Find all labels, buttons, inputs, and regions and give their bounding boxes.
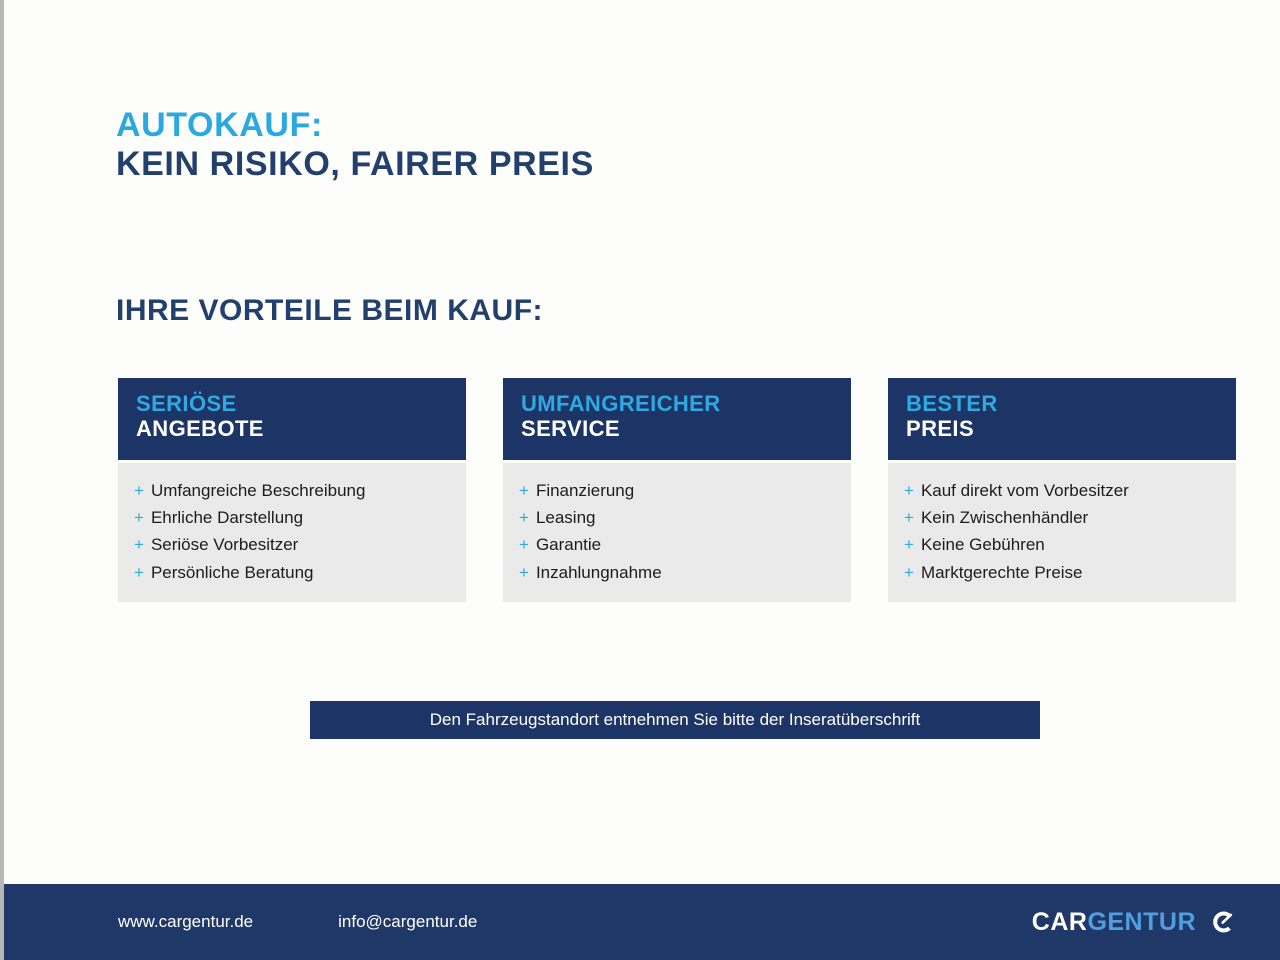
list-item: + Marktgerechte Preise [904,559,1220,586]
plus-icon: + [904,477,914,504]
card-header-main-line: SERVICE [521,417,833,442]
plus-icon: + [134,559,144,586]
list-item-label: Leasing [536,504,596,531]
section-title: IHRE VORTEILE BEIM KAUF: [116,294,543,328]
plus-icon: + [519,531,529,558]
logo-text-car: CAR [1032,908,1088,937]
plus-icon: + [519,504,529,531]
list-item-label: Garantie [536,531,601,558]
card-header-accent-line: BESTER [906,392,1218,417]
card-feature-list: + Kauf direkt vom Vorbesitzer + Kein Zwi… [888,463,1236,602]
plus-icon: + [904,504,914,531]
list-item: + Garantie [519,531,835,558]
plus-icon: + [134,477,144,504]
list-item-label: Marktgerechte Preise [921,559,1083,586]
list-item: + Persönliche Beratung [134,559,450,586]
headline-line-1: AUTOKAUF: [116,108,594,143]
plus-icon: + [519,477,529,504]
card-header: UMFANGREICHER SERVICE [503,378,851,460]
list-item: + Seriöse Vorbesitzer [134,531,450,558]
card-header-accent-line: UMFANGREICHER [521,392,833,417]
plus-icon: + [134,531,144,558]
benefit-card-bester-preis: BESTER PREIS + Kauf direkt vom Vorbesitz… [888,378,1236,602]
footer-email-link[interactable]: info@cargentur.de [338,912,477,932]
left-edge-rail [0,0,4,960]
c-speedometer-icon [1208,907,1238,937]
list-item-label: Kauf direkt vom Vorbesitzer [921,477,1129,504]
benefit-cards: SERIÖSE ANGEBOTE + Umfangreiche Beschrei… [118,378,1236,602]
plus-icon: + [519,559,529,586]
list-item: + Leasing [519,504,835,531]
list-item-label: Finanzierung [536,477,634,504]
list-item: + Kauf direkt vom Vorbesitzer [904,477,1220,504]
benefit-card-umfangreicher-service: UMFANGREICHER SERVICE + Finanzierung + L… [503,378,851,602]
benefit-card-serioese-angebote: SERIÖSE ANGEBOTE + Umfangreiche Beschrei… [118,378,466,602]
page-headline: AUTOKAUF: KEIN RISIKO, FAIRER PREIS [116,108,594,181]
footer-bar: www.cargentur.de info@cargentur.de CAR G… [4,884,1280,960]
card-header: SERIÖSE ANGEBOTE [118,378,466,460]
list-item-label: Seriöse Vorbesitzer [151,531,298,558]
list-item: + Finanzierung [519,477,835,504]
logo-text-gentur: GENTUR [1087,908,1196,937]
plus-icon: + [904,559,914,586]
list-item-label: Ehrliche Darstellung [151,504,303,531]
list-item-label: Inzahlungnahme [536,559,662,586]
list-item: + Kein Zwischenhändler [904,504,1220,531]
list-item-label: Kein Zwischenhändler [921,504,1088,531]
list-item: + Ehrliche Darstellung [134,504,450,531]
card-header-main-line: PREIS [906,417,1218,442]
cargentur-logo[interactable]: CAR GENTUR [1032,907,1238,937]
list-item-label: Umfangreiche Beschreibung [151,477,366,504]
card-feature-list: + Umfangreiche Beschreibung + Ehrliche D… [118,463,466,602]
list-item-label: Persönliche Beratung [151,559,314,586]
list-item: + Inzahlungnahme [519,559,835,586]
plus-icon: + [134,504,144,531]
list-item: + Umfangreiche Beschreibung [134,477,450,504]
list-item-label: Keine Gebühren [921,531,1045,558]
card-header-main-line: ANGEBOTE [136,417,448,442]
slide-canvas: AUTOKAUF: KEIN RISIKO, FAIRER PREIS IHRE… [4,0,1280,960]
list-item: + Keine Gebühren [904,531,1220,558]
card-header: BESTER PREIS [888,378,1236,460]
headline-line-2: KEIN RISIKO, FAIRER PREIS [116,147,594,182]
card-feature-list: + Finanzierung + Leasing + Garantie + In… [503,463,851,602]
plus-icon: + [904,531,914,558]
card-header-accent-line: SERIÖSE [136,392,448,417]
location-notice-banner: Den Fahrzeugstandort entnehmen Sie bitte… [310,701,1040,739]
footer-website-link[interactable]: www.cargentur.de [118,912,253,932]
